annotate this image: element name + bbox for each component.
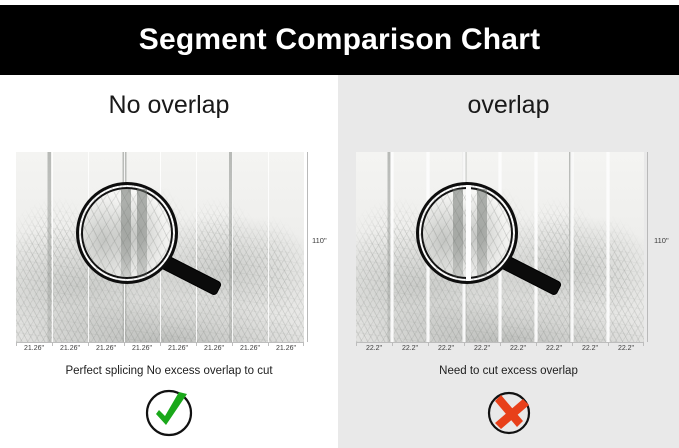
- panel-heading-no-overlap: No overlap: [0, 91, 338, 120]
- caption-no-overlap: Perfect splicing No excess overlap to cu…: [0, 365, 338, 377]
- caption-overlap: Need to cut excess overlap: [338, 365, 679, 377]
- segment-width-label: 22.2": [392, 345, 428, 352]
- segment-width-label: 21.26": [232, 345, 268, 352]
- segment-width-label: 22.2": [356, 345, 392, 352]
- width-ticks-overlap: 22.2" 22.2" 22.2" 22.2" 22.2" 22.2" 22.2…: [356, 342, 644, 357]
- segment-width-label: 21.26": [88, 345, 124, 352]
- title-bar: Segment Comparison Chart: [0, 5, 679, 75]
- segment-width-label: 21.26": [52, 345, 88, 352]
- overlap-gap-highlight: [466, 185, 471, 281]
- segment-width-label: 22.2": [428, 345, 464, 352]
- panel-overlap: overlap: [338, 75, 679, 448]
- segment-width-label: 22.2": [536, 345, 572, 352]
- height-label-overlap: 110": [654, 236, 669, 245]
- segment-width-label: 21.26": [16, 345, 52, 352]
- figure-overlap: 110" 22.2" 22.2" 22.2" 22.2" 22.2": [356, 152, 644, 342]
- height-label-no-overlap: 110": [312, 236, 327, 245]
- segment-width-label: 22.2": [464, 345, 500, 352]
- comparison-panels: No overlap: [0, 75, 679, 448]
- page-title: Segment Comparison Chart: [139, 23, 541, 57]
- panel-heading-overlap: overlap: [338, 91, 679, 120]
- width-ticks-no-overlap: 21.26" 21.26" 21.26" 21.26" 21.26" 21.26…: [16, 342, 304, 357]
- panel-no-overlap: No overlap: [0, 75, 338, 448]
- segment-width-label: 21.26": [196, 345, 232, 352]
- mural-image-overlap: [356, 152, 644, 342]
- x-circle-icon: [483, 387, 535, 439]
- mural-image-no-overlap: [16, 152, 304, 342]
- segment-width-label: 22.2": [608, 345, 644, 352]
- check-circle-icon: [143, 387, 195, 439]
- magnifier-lens: [416, 182, 518, 284]
- magnifier-lens: [76, 182, 178, 284]
- segment-width-label: 22.2": [500, 345, 536, 352]
- figure-no-overlap: 110" 21.26" 21.26" 21.26" 21.26" 21.26": [16, 152, 304, 342]
- segment-width-label: 21.26": [124, 345, 160, 352]
- segment-width-label: 21.26": [268, 345, 304, 352]
- magnifier-icon: [416, 182, 536, 302]
- magnifier-icon: [76, 182, 196, 302]
- segment-width-label: 22.2": [572, 345, 608, 352]
- segment-width-label: 21.26": [160, 345, 196, 352]
